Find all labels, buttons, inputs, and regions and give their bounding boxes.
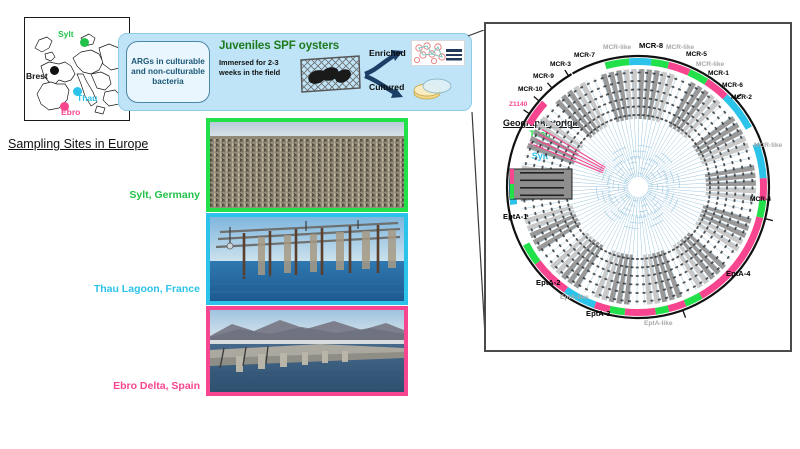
- photo-thau: [206, 213, 408, 305]
- clade-label-mcr-like-7: MCR-like: [666, 44, 694, 51]
- map-label-sylt: Sylt: [58, 29, 74, 39]
- clade-label-epta-like-16: EptA-like: [644, 320, 673, 327]
- args-callout-box: ARGs in culturable and non-culturable ba…: [126, 41, 210, 103]
- oyster-mesh-bag-icon: [297, 52, 363, 96]
- clade-label-epta-like-18: EptA-like: [560, 294, 589, 301]
- clade-label-mcr-like-5: MCR-like: [603, 44, 631, 51]
- clade-label-mcr-4-14: MCR-4: [750, 196, 771, 203]
- phylogenetic-tree-panel: Geographic origin: Thau Ebro Sylt Z1140M…: [484, 22, 792, 352]
- metagenome-icon: [411, 40, 465, 66]
- clade-label-mcr-like-9: MCR-like: [696, 61, 724, 68]
- map-label-thau: Thau: [77, 93, 97, 103]
- map-dot-brest: [50, 66, 59, 75]
- clade-label-mcr-2-12: MCR-2: [731, 94, 752, 101]
- map-label-brest: Brest: [26, 71, 48, 81]
- workflow-subtitle: Immersed for 2-3 weeks in the field: [219, 58, 297, 78]
- clade-label-mcr-9-2: MCR-9: [533, 73, 554, 80]
- photo-label-ebro: Ebro Delta, Spain: [60, 380, 200, 392]
- photo-sylt: [206, 118, 408, 212]
- clade-label-mcr-1-10: MCR-1: [708, 70, 729, 77]
- photo-label-sylt: Sylt, Germany: [60, 189, 200, 201]
- clade-label-mcr-5-8: MCR-5: [686, 51, 707, 58]
- clade-label-mcr-3-3: MCR-3: [550, 61, 571, 68]
- clade-label-epta-1-20: EptA-1: [503, 212, 527, 221]
- clade-label-mcr-like-13: MCR-like: [754, 142, 782, 149]
- clade-label-epta-4-15: EptA-4: [726, 269, 750, 278]
- map-site-markers: SyltBrestThauEbro: [24, 17, 128, 119]
- map-label-ebro: Ebro: [61, 107, 80, 117]
- photo-ebro: [206, 306, 408, 396]
- clade-label-mcr-7-4: MCR-7: [574, 52, 595, 59]
- sampling-sites-caption: Sampling Sites in Europe: [8, 137, 148, 151]
- output-label-cultured: Cultured: [369, 82, 404, 92]
- clade-label-epta-3-17: EptA-3: [586, 309, 610, 318]
- clade-label-mcr-6-11: MCR-6: [722, 82, 743, 89]
- clade-label-mcr-10-1: MCR-10: [518, 86, 543, 93]
- workflow-title: Juveniles SPF oysters: [219, 40, 339, 52]
- clade-label-z1140-0: Z1140: [509, 101, 527, 108]
- photo-label-thau: Thau Lagoon, France: [42, 283, 200, 295]
- args-callout-text: ARGs in culturable and non-culturable ba…: [127, 57, 209, 87]
- output-label-enriched: Enriched: [369, 48, 406, 58]
- clade-label-mcr-8-6: MCR-8: [639, 41, 663, 50]
- clade-label-layer: Z1140MCR-10MCR-9MCR-3MCR-7MCR-likeMCR-8M…: [486, 24, 790, 350]
- petri-dish-icon: [411, 74, 455, 102]
- clade-label-epta-2-19: EptA-2: [536, 278, 560, 287]
- map-dot-sylt: [80, 38, 89, 47]
- workflow-panel: ARGs in culturable and non-culturable ba…: [118, 33, 472, 111]
